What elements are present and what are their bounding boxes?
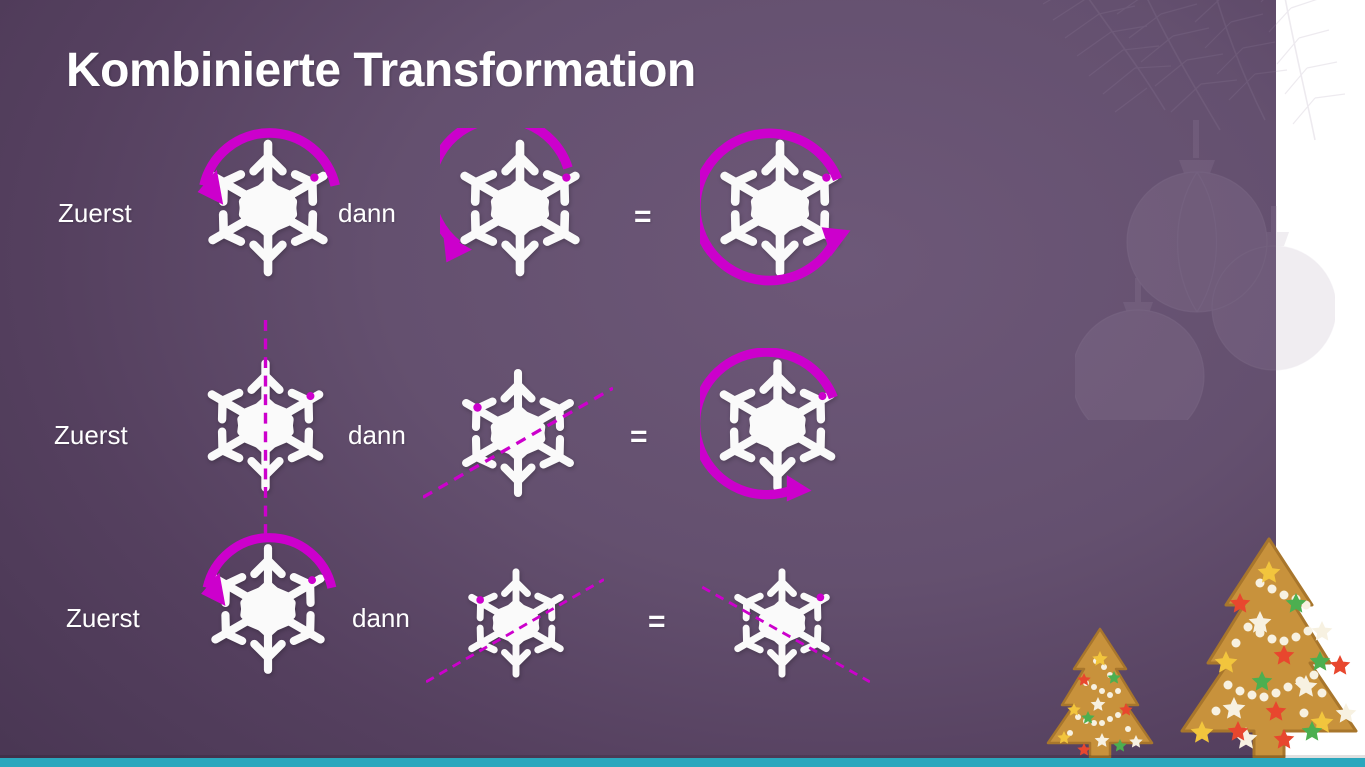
snowflake-icon bbox=[700, 128, 860, 288]
row2-then-label: dann bbox=[348, 420, 406, 451]
row2-step1-figure bbox=[188, 348, 343, 503]
row1-step1-figure bbox=[188, 128, 348, 288]
snowflake-icon bbox=[452, 559, 580, 687]
snowflake-icon bbox=[700, 348, 855, 503]
snowflake-icon bbox=[192, 533, 344, 685]
page-title: Kombinierte Transformation bbox=[66, 43, 696, 98]
snowflake-icon bbox=[440, 128, 600, 288]
gingerbread-tree-small bbox=[1040, 625, 1160, 760]
row1-step2-figure bbox=[440, 128, 600, 288]
snowflake-icon bbox=[188, 348, 343, 503]
snowflake-icon bbox=[188, 128, 348, 288]
row2-result-figure bbox=[700, 348, 855, 503]
snowflake-icon bbox=[443, 358, 593, 508]
row3-step1-figure bbox=[192, 533, 344, 685]
bottom-accent-bar bbox=[0, 758, 1365, 767]
row1-first-label: Zuerst bbox=[58, 198, 132, 229]
row3-first-label: Zuerst bbox=[66, 603, 140, 634]
row2-equals-sign: = bbox=[630, 420, 648, 454]
row2-step2-figure bbox=[443, 358, 593, 508]
row3-equals-sign: = bbox=[648, 605, 666, 639]
gingerbread-tree-large bbox=[1172, 535, 1365, 767]
snowflake-icon bbox=[718, 559, 846, 687]
transformation-row-2: Zuerst bbox=[0, 320, 1000, 530]
row1-then-label: dann bbox=[338, 198, 396, 229]
transformation-row-3: Zuerst bbox=[0, 515, 1000, 725]
row3-result-figure bbox=[718, 559, 846, 687]
row1-result-figure bbox=[700, 128, 860, 288]
row2-first-label: Zuerst bbox=[54, 420, 128, 451]
row1-equals-sign: = bbox=[634, 200, 652, 234]
row3-then-label: dann bbox=[352, 603, 410, 634]
transformation-row-1: Zuerst bbox=[0, 110, 1000, 320]
slide-canvas: Kombinierte Transformation Zuerst bbox=[0, 0, 1365, 767]
row3-step2-figure bbox=[452, 559, 580, 687]
